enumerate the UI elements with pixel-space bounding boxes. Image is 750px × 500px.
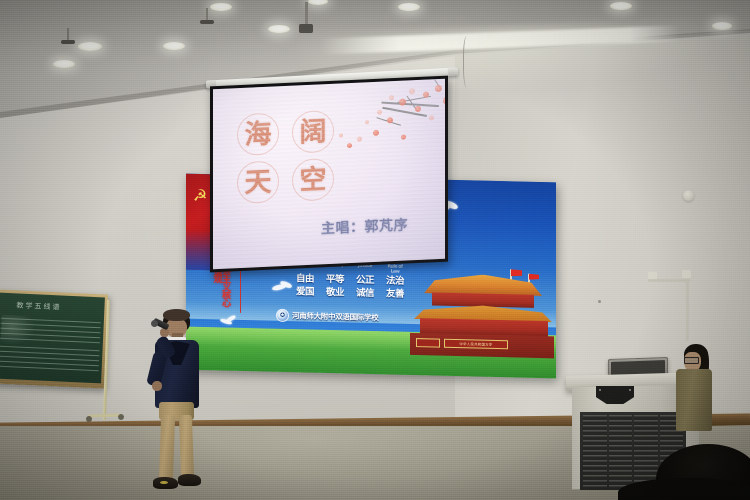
blossom [377,110,382,115]
audience-shoulder-silhouette [618,478,750,500]
value-term: 平等 [324,274,346,286]
plum-blossom-branch [331,81,445,170]
projector-body [299,24,313,33]
value-term: 公正 [354,275,376,287]
value-term: 敬业 [324,287,346,299]
ceiling-light-1 [78,42,102,51]
stand-wheel-right [118,414,124,420]
school-name: 河南师大附中双语国际学校 [292,310,378,323]
tiananmen-slogan-left [416,338,440,348]
stand-wheel-left [86,416,92,422]
blossom [389,95,394,100]
blossom [357,137,362,142]
ceiling-light-5 [210,3,232,11]
blossom [401,135,406,140]
hammer-sickle-icon: ☭ [193,188,207,204]
value-term: 诚信 [354,287,376,299]
ceiling-light-3 [163,42,185,50]
projector-mount-head [61,40,75,44]
wall-mounted-disc [683,190,694,201]
blossom [409,88,415,94]
operator-torso [676,369,712,431]
blackboard-title: 教学五线谱 [16,300,61,312]
screen-power-cable [463,36,472,88]
slide-title-row-2: 天 空 [237,158,334,204]
blossom [365,120,369,124]
staff-line [0,361,99,367]
tiananmen-illustration: 中华人民共和国万岁 [402,259,554,359]
ceiling-light-4 [268,25,290,33]
dove-1 [272,282,294,293]
ceiling-light-9 [712,22,732,30]
blossom [435,85,442,92]
vent-column [583,415,607,487]
slide-title: 海 阔 天 空 [237,110,334,204]
ceiling-light-8 [610,2,632,10]
auditorium-scene: 教学五线谱 ☭ 社会主义核心价值观 [0,0,750,500]
red-flag-1 [511,269,522,276]
value-term: 爱国 [294,286,316,298]
singer-left-hand [152,381,162,391]
blossom [415,106,421,112]
ceiling-light-6 [398,3,420,11]
microphone-head [151,320,158,327]
slide-performer-credit: 主唱：郭芃序 [321,214,408,238]
slide-title-char-2: 阔 [292,110,334,154]
ceiling-light-2 [53,60,75,68]
shoe-swoosh-icon [160,481,168,484]
camera-mount-head [200,20,214,24]
plate-screw [599,389,601,391]
staff-line [0,366,98,372]
slide-title-char-3: 天 [237,160,279,204]
operator-glasses [684,357,699,364]
school-logo-icon: ✪ [276,309,289,322]
singer-left-leg [159,415,175,481]
plate-screw [629,389,631,391]
projection-screen-frame[interactable]: 海 阔 天 空 主唱：郭芃序 [210,76,448,273]
screen-endcap-right [448,67,458,76]
wall-conduit-vertical [686,279,689,341]
dove-2 [220,316,238,325]
singer-right-leg [179,415,194,479]
wall-speck-2 [598,300,601,303]
blossom [443,96,445,104]
blossom [339,133,343,137]
value-term: 自由 [294,273,316,285]
staff-line [0,356,99,362]
blackboard-surface: 教学五线谱 [0,293,105,384]
slide-title-char-1: 海 [237,112,279,156]
projection-screen-surface[interactable]: 海 阔 天 空 主唱：郭芃序 [213,79,445,270]
blossom [373,130,379,136]
projector-rod [305,2,308,26]
conduit-bracket-right [682,270,691,278]
vent-column [634,415,658,487]
vent-column [609,415,633,487]
slide-title-char-4: 空 [292,158,334,202]
core-values-block: Freedom Equality Justice Rule of Law 自由 … [294,262,406,300]
wall-conduit-horizontal [648,279,690,282]
chalk-smudge [1,315,36,347]
school-identity: ✪ 河南师大附中双语国际学校 [276,309,378,324]
tiananmen-slogan: 中华人民共和国万岁 [444,339,508,350]
singer-right-shoe [178,474,201,486]
staff-line [0,346,99,352]
slide-title-row-1: 海 阔 [237,110,334,156]
tiananmen-upper-body [432,292,534,307]
singer-head-shadow [163,309,190,321]
blossom [347,143,352,148]
red-flag-2 [529,274,539,280]
staff-line [0,351,99,357]
blossom [429,115,434,120]
blackboard-frame: 教学五线谱 [0,290,108,389]
